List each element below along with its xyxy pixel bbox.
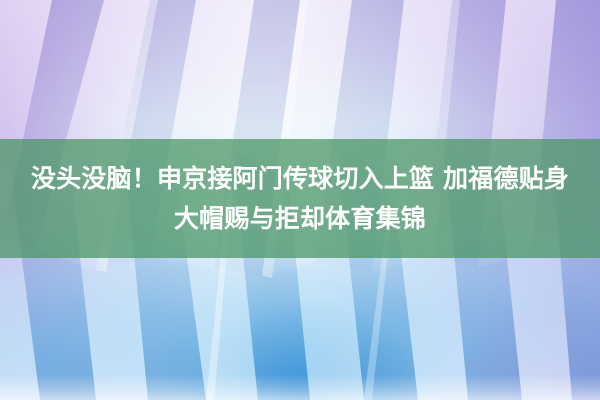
headline-text: 没头没脑！申京接阿门传球切入上篮 加福德贴身 大帽赐与拒却体育集锦	[0, 159, 600, 239]
background-bottom-haze	[0, 374, 600, 400]
headline-line-2: 大帽赐与拒却体育集锦	[0, 199, 600, 239]
headline-band: 没头没脑！申京接阿门传球切入上篮 加福德贴身 大帽赐与拒却体育集锦	[0, 139, 600, 258]
headline-line-1: 没头没脑！申京接阿门传球切入上篮 加福德贴身	[0, 159, 600, 199]
sports-headline-banner: 没头没脑！申京接阿门传球切入上篮 加福德贴身 大帽赐与拒却体育集锦	[0, 0, 600, 400]
